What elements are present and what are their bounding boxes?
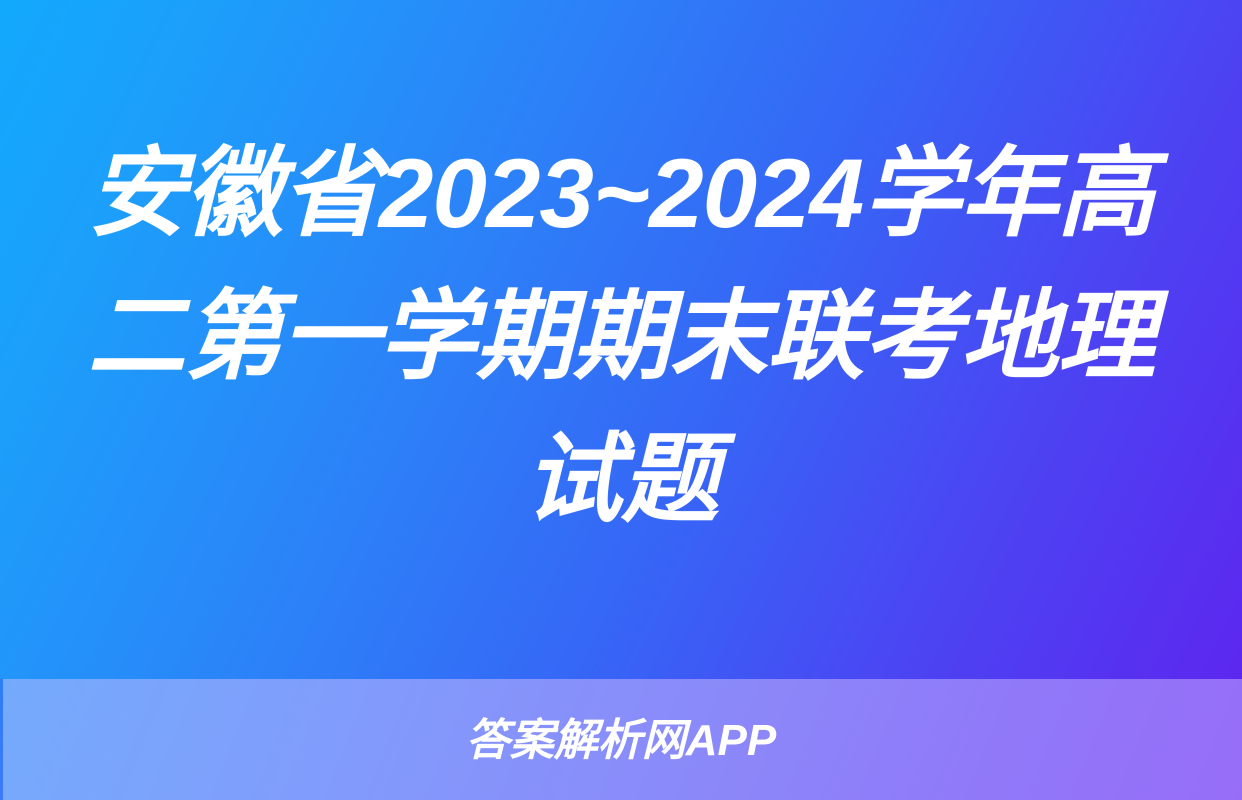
page-title: 安徽省2023~2024学年高二第一学期期末联考地理试题 [80,122,1162,551]
app-brand-label: 答案解析网APP [466,717,776,765]
footer-left-accent-bar [0,679,3,800]
footer-banner: 答案解析网APP [0,679,1242,800]
hero-banner: 安徽省2023~2024学年高二第一学期期末联考地理试题 [0,0,1242,679]
poster-canvas: 安徽省2023~2024学年高二第一学期期末联考地理试题 答案解析网APP [0,0,1242,800]
